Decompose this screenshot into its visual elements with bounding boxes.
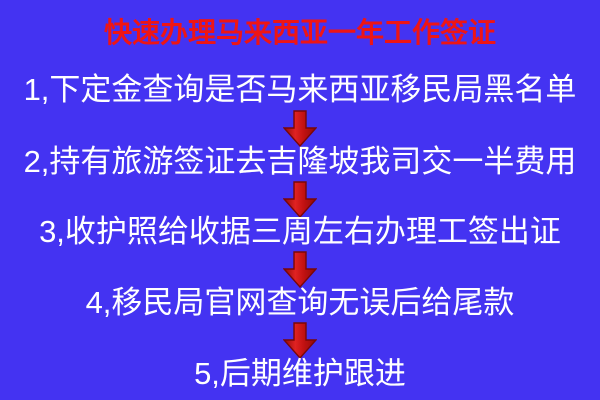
flow-step-5: 5,后期维护跟进: [0, 356, 600, 392]
flow-step-4: 4,移民局官网查询无误后给尾款: [0, 285, 600, 321]
poster-canvas: 快速办理马来西亚一年工作签证 1,下定金查询是否马来西亚移民局黑名单 2,持有旅…: [0, 0, 600, 400]
flow-step-1: 1,下定金查询是否马来西亚移民局黑名单: [0, 72, 600, 108]
page-title: 快速办理马来西亚一年工作签证: [0, 14, 600, 52]
arrow-down-icon: [283, 110, 317, 147]
arrow-down-icon: [283, 251, 317, 288]
flow-step-3: 3,收护照给收据三周左右办理工签出证: [0, 214, 600, 250]
arrow-down-icon: [283, 322, 317, 359]
flow-step-2: 2,持有旅游签证去吉隆坡我司交一半费用: [0, 144, 600, 180]
arrow-down-icon: [283, 181, 317, 218]
